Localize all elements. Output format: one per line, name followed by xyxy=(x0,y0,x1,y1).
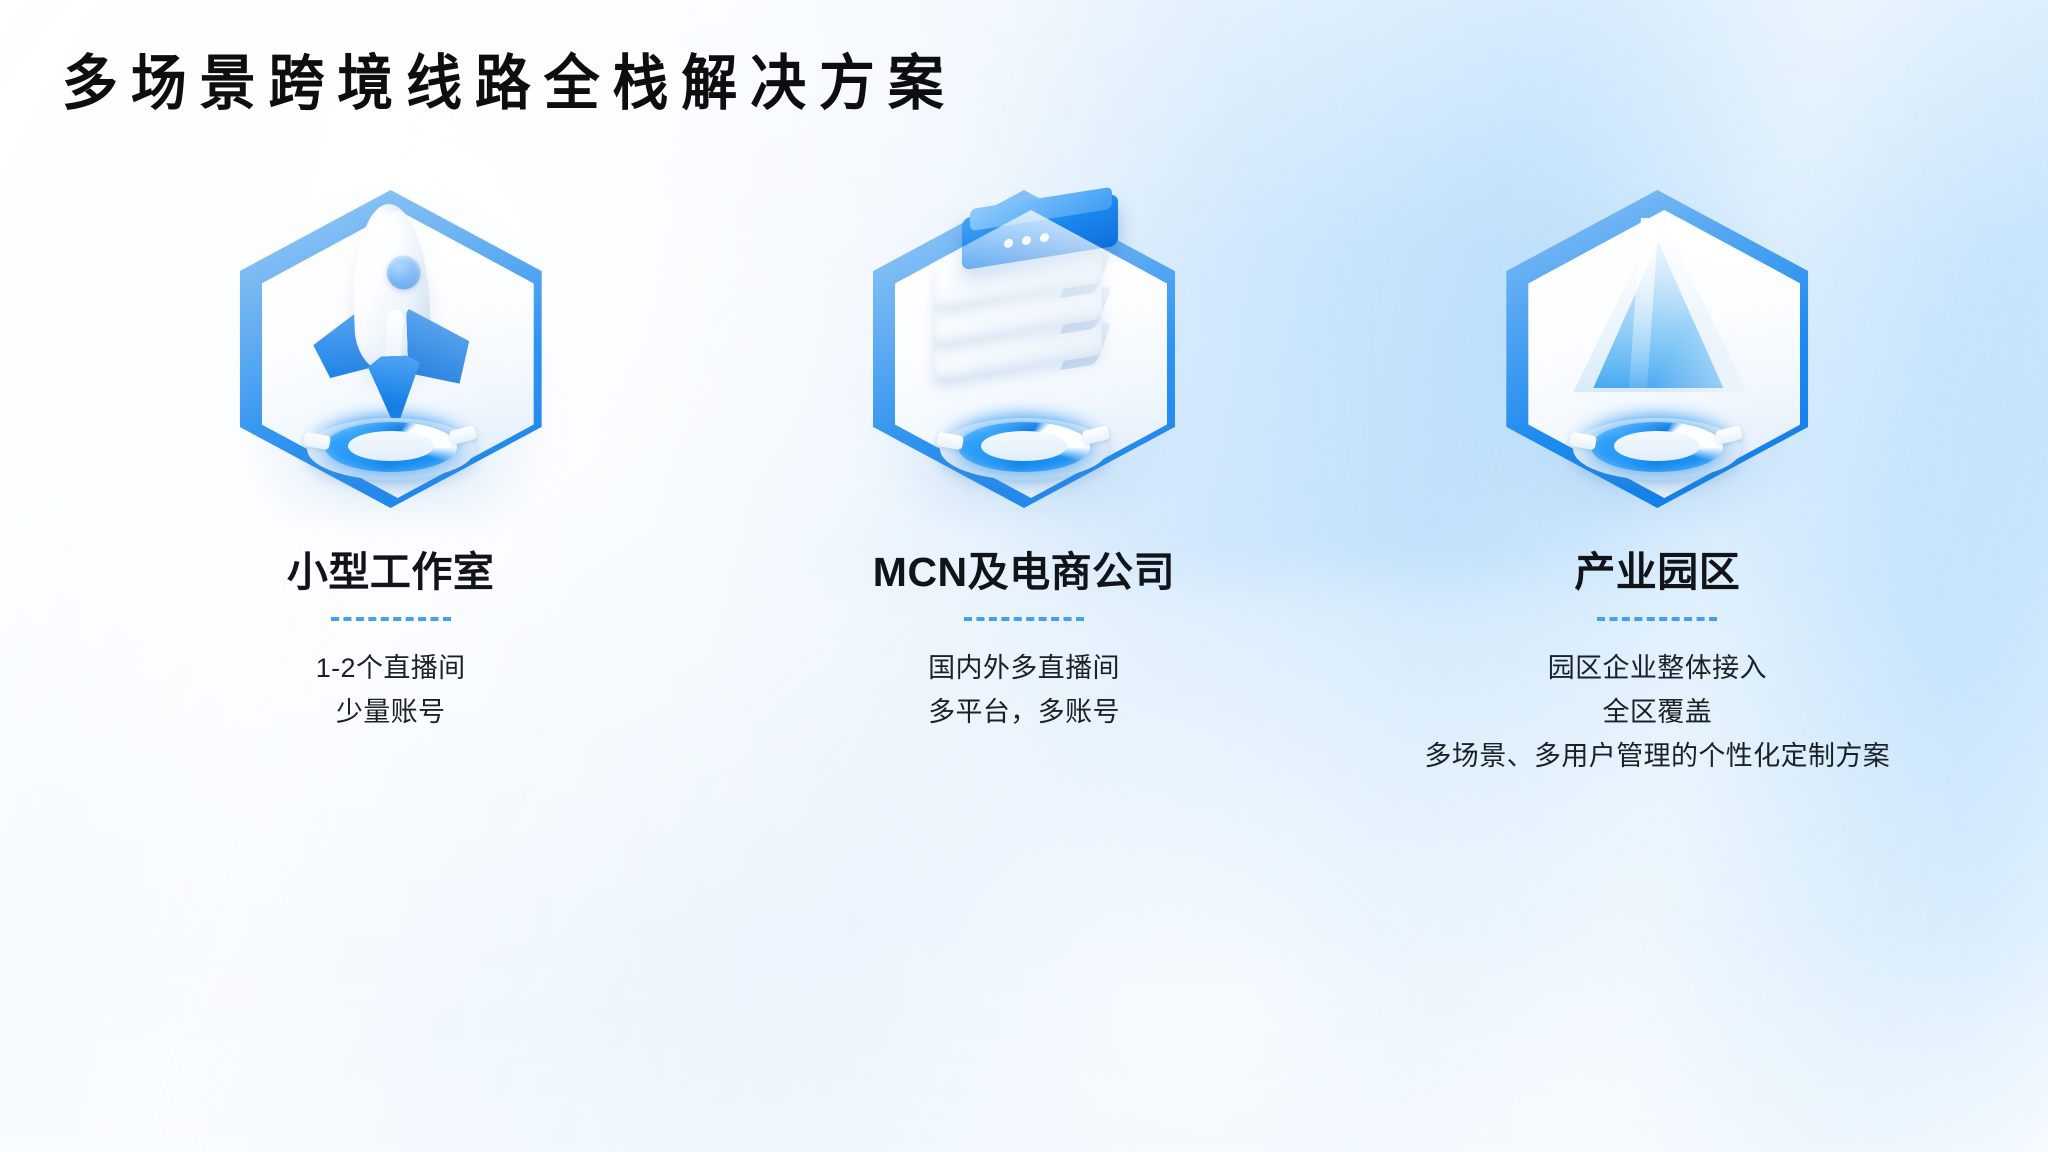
server-stack-icon xyxy=(918,196,1130,408)
icon-stage xyxy=(859,168,1189,468)
card-small-studio[interactable]: 小型工作室 1-2个直播间 少量账号 xyxy=(111,168,671,735)
card-title-mcn: MCN及电商公司 xyxy=(873,550,1175,595)
prism-edge-highlight-icon xyxy=(1573,214,1747,392)
card-divider xyxy=(1597,617,1717,621)
card-desc-line: 多场景、多用户管理的个性化定制方案 xyxy=(1424,735,1890,779)
disc-center xyxy=(1614,431,1700,461)
card-title-small-studio: 小型工作室 xyxy=(287,550,495,595)
page-title: 多场景跨境线路全栈解决方案 xyxy=(62,54,957,114)
server-status-dot xyxy=(1040,232,1049,242)
card-description-mcn: 国内外多直播间 多平台，多账号 xyxy=(928,647,1120,734)
card-desc-line: 少量账号 xyxy=(316,691,466,735)
glow-disc-base xyxy=(931,404,1117,482)
server-status-dot xyxy=(1004,238,1013,248)
card-title-industrial-park: 产业园区 xyxy=(1574,550,1740,595)
disc-center xyxy=(981,431,1067,461)
card-desc-line: 国内外多直播间 xyxy=(928,647,1120,691)
card-description-small-studio: 1-2个直播间 少量账号 xyxy=(316,647,466,734)
glow-disc-base xyxy=(1564,404,1750,482)
card-desc-line: 园区企业整体接入 xyxy=(1424,647,1890,691)
server-status-dot xyxy=(1022,235,1031,245)
card-desc-line: 全区覆盖 xyxy=(1424,691,1890,735)
solution-card-row: 小型工作室 1-2个直播间 少量账号 xyxy=(0,168,2048,778)
card-divider xyxy=(331,617,451,621)
prism-triangle-icon xyxy=(1547,208,1767,408)
rocket-icon xyxy=(292,201,489,416)
icon-stage xyxy=(1492,168,1822,468)
hexagon-badge-small-studio xyxy=(226,168,556,528)
card-desc-line: 多平台，多账号 xyxy=(928,691,1120,735)
card-desc-line: 1-2个直播间 xyxy=(316,647,466,691)
hexagon-badge-mcn xyxy=(859,168,1189,528)
glow-disc-base xyxy=(298,404,484,482)
hexagon-badge-industrial-park xyxy=(1492,168,1822,528)
card-divider xyxy=(964,617,1084,621)
disc-center xyxy=(348,431,434,461)
card-industrial-park[interactable]: 产业园区 园区企业整体接入 全区覆盖 多场景、多用户管理的个性化定制方案 xyxy=(1377,168,1937,778)
icon-stage xyxy=(226,168,556,468)
card-mcn-ecommerce[interactable]: MCN及电商公司 国内外多直播间 多平台，多账号 xyxy=(744,168,1304,735)
card-description-industrial-park: 园区企业整体接入 全区覆盖 多场景、多用户管理的个性化定制方案 xyxy=(1424,647,1890,778)
